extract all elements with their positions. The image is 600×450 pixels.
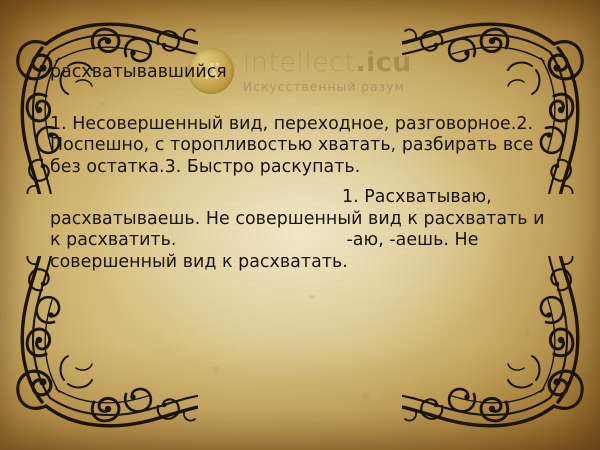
filigree-corner-ornament-bottom-right: [402, 256, 598, 446]
headword: расхватывавшийся: [50, 62, 558, 84]
dictionary-article: расхватывавшийся 1. Несовершенный вид, п…: [50, 62, 558, 273]
parchment-page: intellect.icu Искусственный разум расхва…: [0, 0, 600, 450]
filigree-corner-ornament-bottom-left: [2, 256, 198, 446]
inflection-forms: 1. Расхватываю,расхватываешь. Не соверше…: [50, 187, 558, 273]
forms-line-1: 1. Расхватываю,: [50, 187, 492, 207]
sense-definitions: 1. Несовершенный вид, переходное, разгов…: [50, 114, 558, 179]
